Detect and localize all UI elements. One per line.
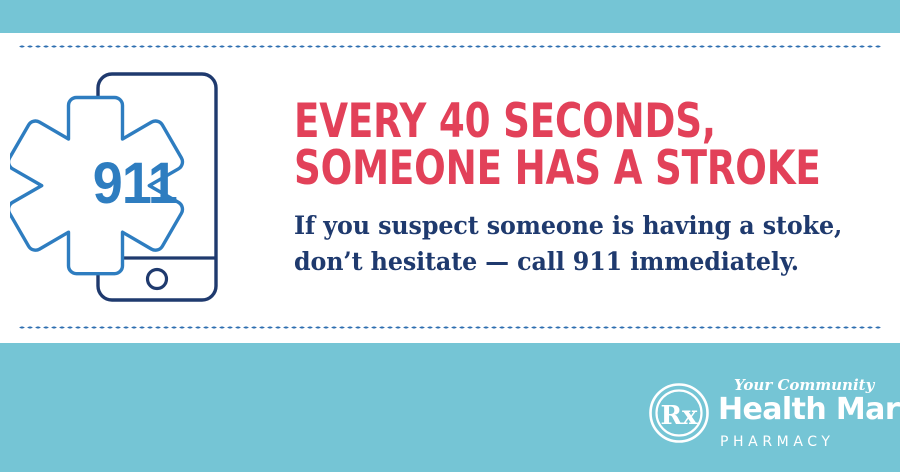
health-mart-logo: Rx Your Community Health Mart® PHARMACY bbox=[648, 376, 892, 448]
logo-subtitle: PHARMACY bbox=[718, 433, 894, 451]
emergency-call-illustration: 911 bbox=[10, 60, 260, 310]
bottom-dotted-divider bbox=[18, 326, 882, 329]
health-mart-wordmark: Your Community Health Mart® PHARMACY bbox=[718, 376, 894, 451]
headline-line-1: EVERY 40 SECONDS, bbox=[294, 98, 796, 145]
rx-icon: Rx bbox=[648, 382, 710, 444]
subcopy-line-1: If you suspect someone is having a stoke… bbox=[294, 208, 836, 244]
stroke-awareness-poster: 911 EVERY 40 SECONDS, SOMEONE HAS A STRO… bbox=[0, 0, 900, 472]
subcopy-line-2: don’t hesitate — call 911 immediately. bbox=[294, 244, 836, 280]
logo-name: Health Mart® bbox=[718, 394, 894, 433]
svg-text:Rx: Rx bbox=[660, 401, 698, 431]
emergency-number-text: 911 bbox=[93, 150, 177, 215]
top-color-band bbox=[0, 0, 900, 33]
logo-name-text: Health Mart bbox=[718, 392, 900, 427]
message-block: EVERY 40 SECONDS, SOMEONE HAS A STROKE I… bbox=[294, 98, 864, 280]
top-dotted-divider bbox=[18, 45, 882, 48]
headline-line-2: SOMEONE HAS A STROKE bbox=[294, 145, 796, 192]
subcopy: If you suspect someone is having a stoke… bbox=[294, 192, 836, 280]
headline: EVERY 40 SECONDS, SOMEONE HAS A STROKE bbox=[294, 98, 796, 192]
